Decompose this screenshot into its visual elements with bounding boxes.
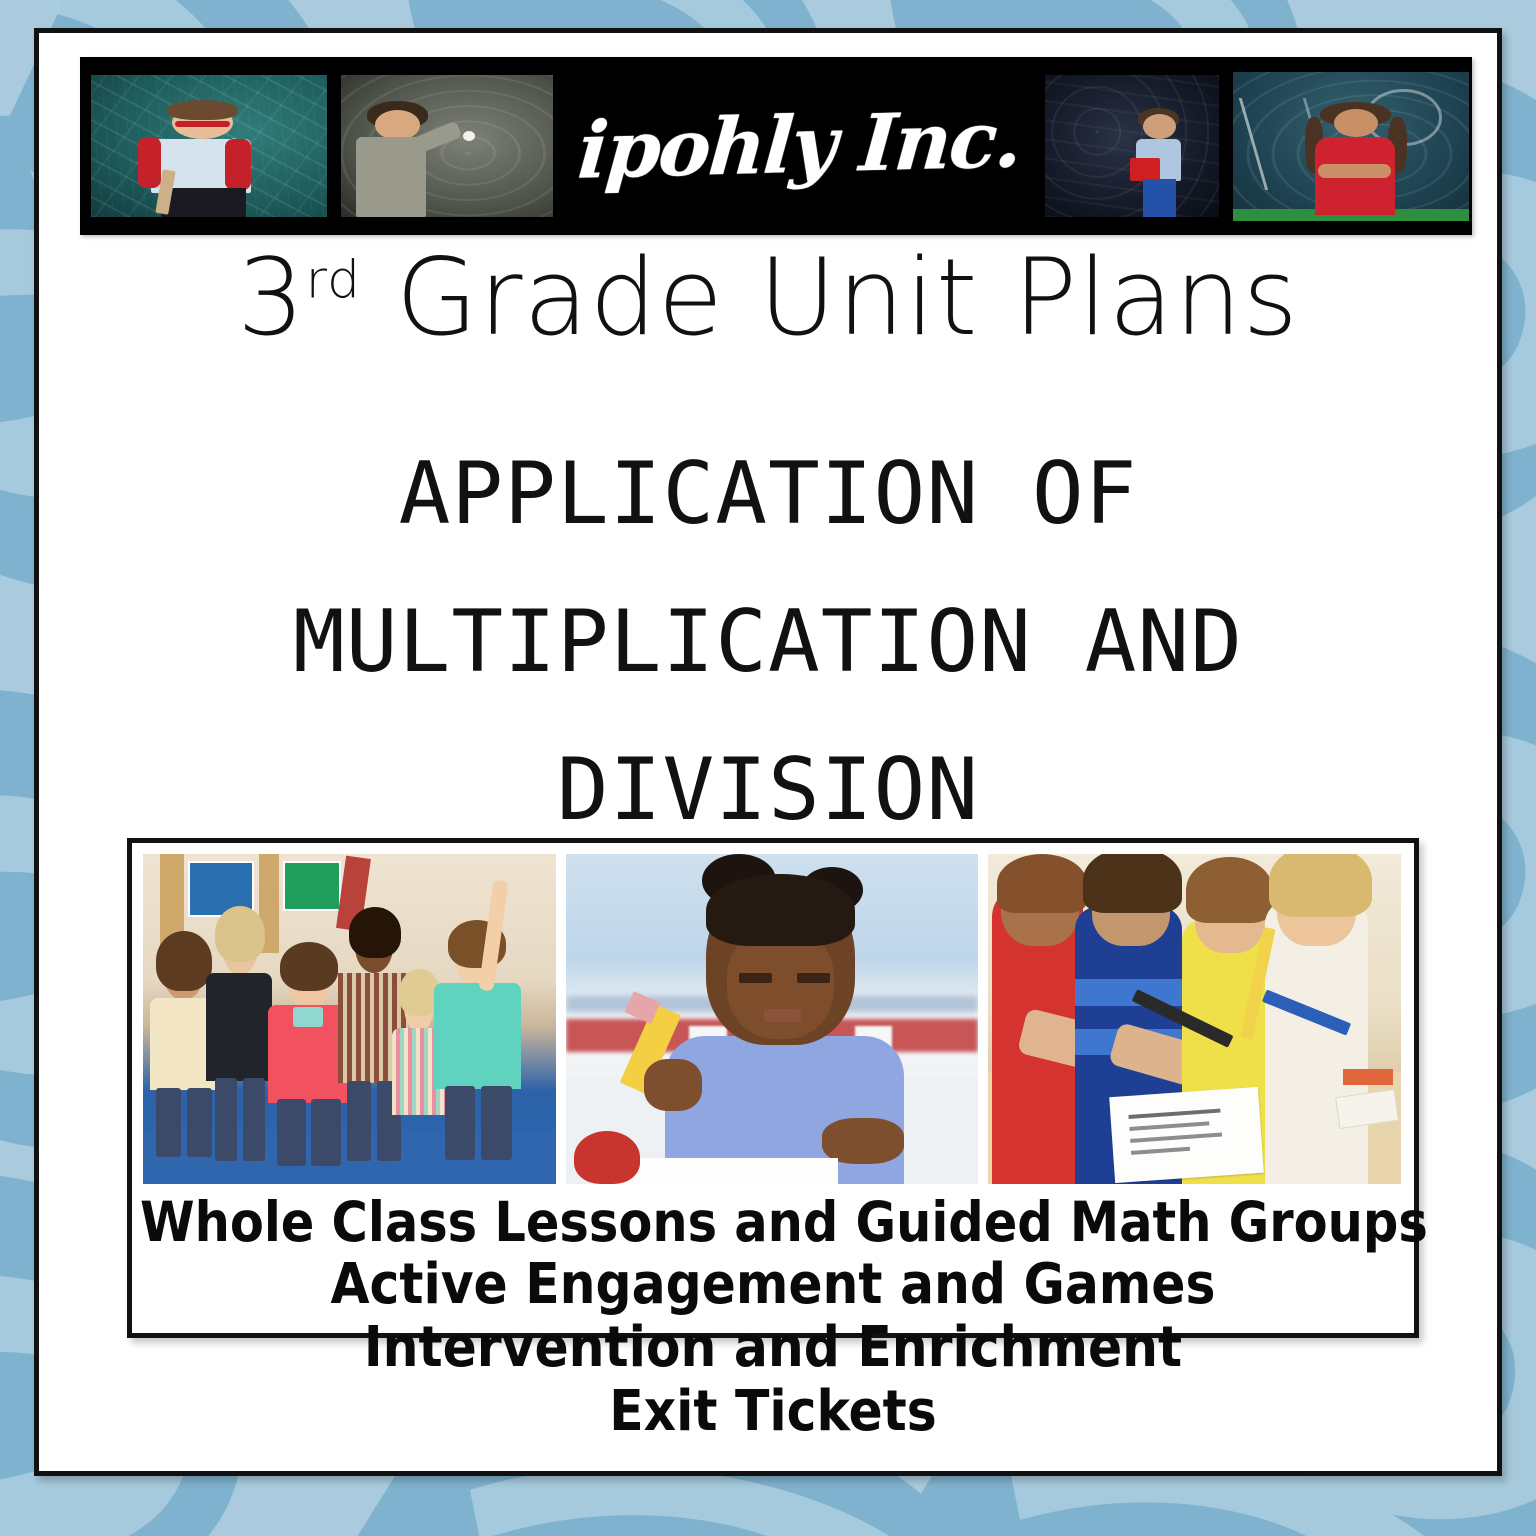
blurb-line-3: Intervention and Enrichment: [140, 1316, 1406, 1379]
student-figure: [354, 103, 452, 217]
header-photo-2: [338, 72, 556, 220]
student-figure: [143, 106, 275, 217]
page-title: 3rd Grade Unit Plans: [39, 245, 1497, 351]
title-rest: Grade Unit Plans: [361, 236, 1299, 359]
page-subtitle: APPLICATION OF MULTIPLICATION AND DIVISI…: [79, 421, 1457, 865]
brand-header-banner: ipohly Inc.: [80, 57, 1472, 235]
header-photo-4: [1230, 69, 1472, 224]
subtitle-line-1: APPLICATION OF: [79, 421, 1457, 569]
hand: [644, 1059, 702, 1112]
header-photo-1: [88, 72, 330, 220]
blurb-line-4: Exit Tickets: [140, 1380, 1406, 1443]
feature-photo-strip: [143, 854, 1401, 1184]
poster-card: ipohly Inc.: [34, 28, 1502, 1476]
poster-canvas: ipohly Inc.: [0, 0, 1536, 1536]
features-box: Whole Class Lessons and Guided Math Grou…: [127, 838, 1419, 1338]
title-grade-ordinal: rd: [306, 251, 361, 311]
student-figure: [1313, 104, 1398, 214]
title-grade-number: 3: [237, 236, 305, 359]
blurb-line-1: Whole Class Lessons and Guided Math Grou…: [140, 1191, 1406, 1253]
brand-logo: ipohly Inc.: [556, 57, 1042, 235]
subtitle-line-2: MULTIPLICATION AND: [79, 569, 1457, 717]
feature-photo-2: [566, 854, 979, 1184]
blurb-line-2: Active Engagement and Games: [140, 1253, 1406, 1316]
feature-blurb: Whole Class Lessons and Guided Math Grou…: [140, 1191, 1406, 1443]
feature-photo-3: [988, 854, 1401, 1184]
feature-photo-1: [143, 854, 556, 1184]
header-photo-3: [1042, 72, 1222, 220]
student-figure: [1132, 112, 1191, 217]
worksheet: [1109, 1087, 1263, 1183]
brand-logo-text: ipohly Inc.: [575, 101, 1023, 191]
apple: [574, 1131, 640, 1184]
